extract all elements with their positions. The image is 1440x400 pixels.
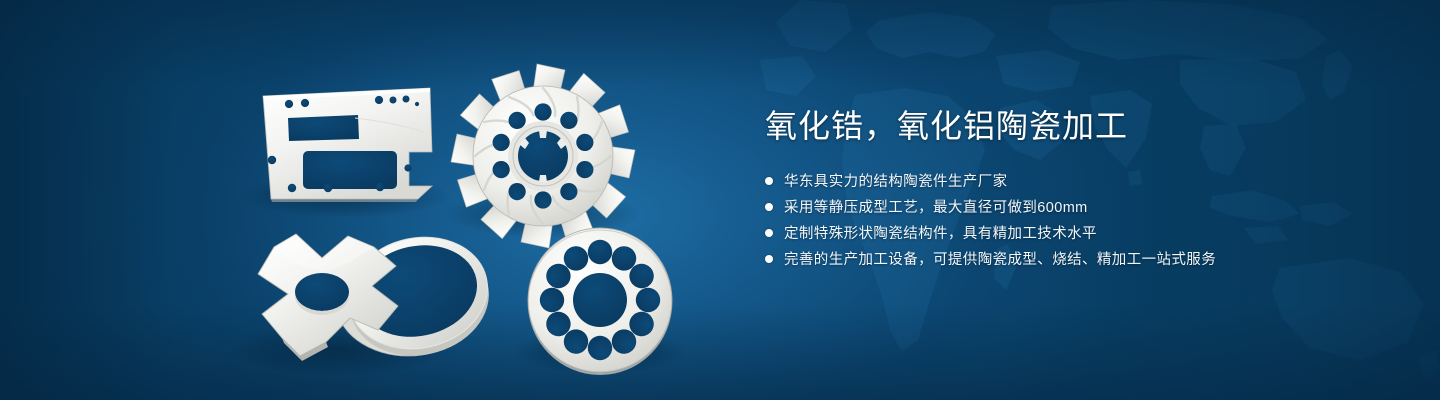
list-item: 定制特殊形状陶瓷结构件，具有精加工技术水平 bbox=[765, 222, 1385, 244]
bullet-dot-icon bbox=[765, 255, 773, 263]
feature-text: 华东具实力的结构陶瓷件生产厂家 bbox=[784, 170, 1008, 191]
product-photo-cluster bbox=[0, 0, 760, 400]
product-ceramic-perforated-disc bbox=[528, 228, 672, 375]
list-item: 华东具实力的结构陶瓷件生产厂家 bbox=[765, 170, 1385, 192]
feature-text: 定制特殊形状陶瓷结构件，具有精加工技术水平 bbox=[784, 222, 1097, 243]
bullet-dot-icon bbox=[765, 203, 773, 211]
bullet-dot-icon bbox=[765, 229, 773, 237]
feature-text: 完善的生产加工设备，可提供陶瓷成型、烧结、精加工一站式服务 bbox=[784, 248, 1216, 269]
banner-copy: 氧化锆，氧化铝陶瓷加工 华东具实力的结构陶瓷件生产厂家 采用等静压成型工艺，最大… bbox=[765, 108, 1385, 274]
feature-text: 采用等静压成型工艺，最大直径可做到600mm bbox=[784, 196, 1088, 217]
page-title: 氧化锆，氧化铝陶瓷加工 bbox=[765, 108, 1385, 146]
list-item: 采用等静压成型工艺，最大直径可做到600mm bbox=[765, 196, 1385, 218]
bullet-dot-icon bbox=[765, 177, 773, 185]
product-ceramic-plate bbox=[263, 88, 432, 202]
promo-banner: 氧化锆，氧化铝陶瓷加工 华东具实力的结构陶瓷件生产厂家 采用等静压成型工艺，最大… bbox=[0, 0, 1440, 400]
feature-list: 华东具实力的结构陶瓷件生产厂家 采用等静压成型工艺，最大直径可做到600mm 定… bbox=[765, 170, 1385, 270]
list-item: 完善的生产加工设备，可提供陶瓷成型、烧结、精加工一站式服务 bbox=[765, 248, 1385, 270]
